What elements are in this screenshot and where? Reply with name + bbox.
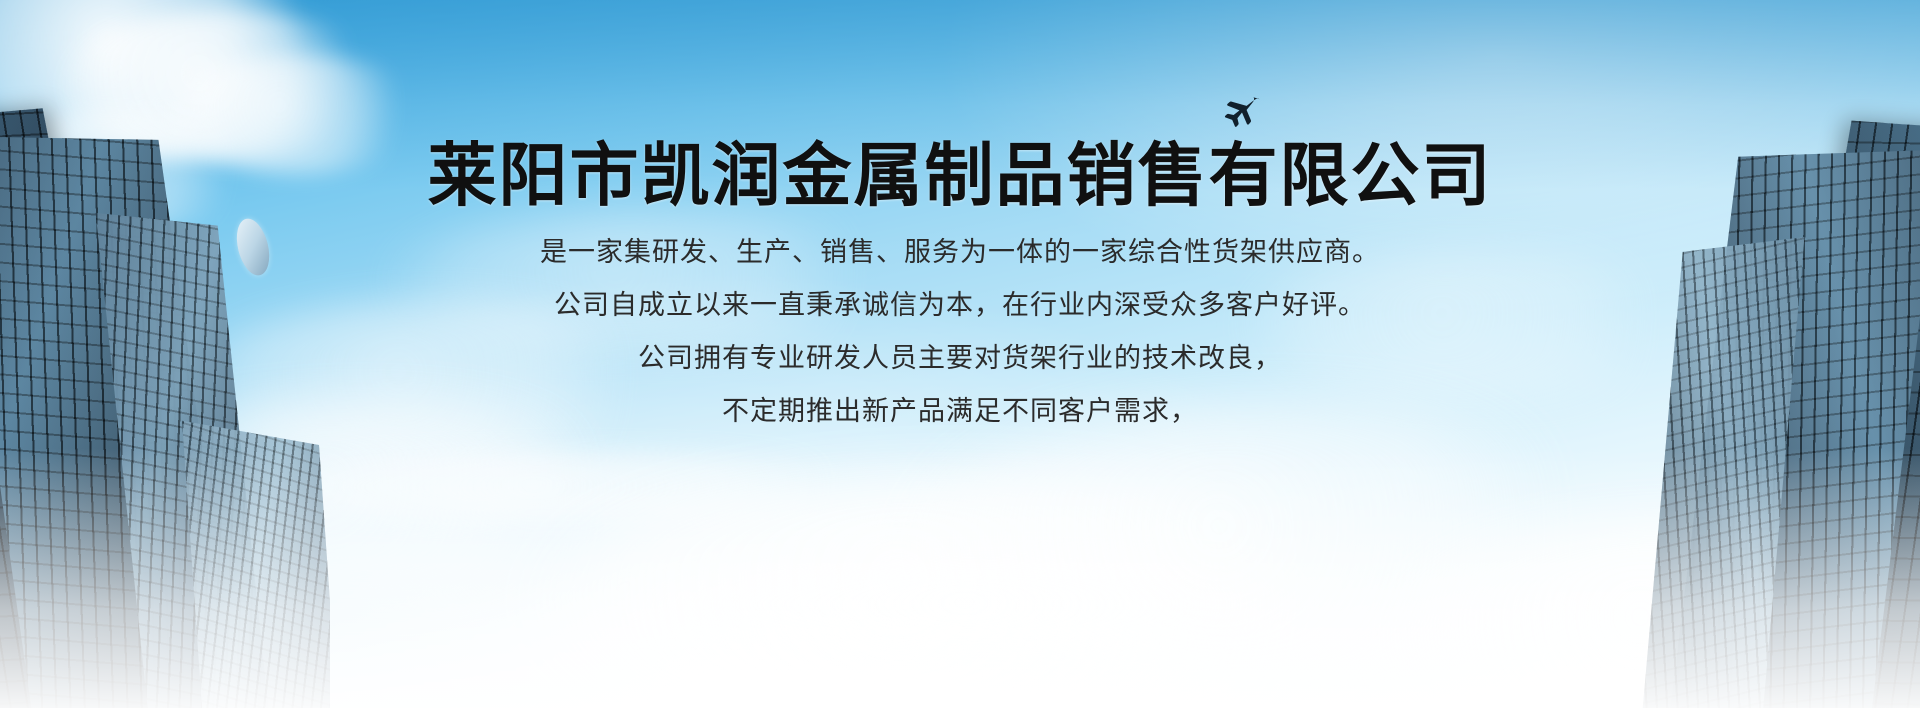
company-description: 是一家集研发、生产、销售、服务为一体的一家综合性货架供应商。 公司自成立以来一直… bbox=[0, 211, 1920, 427]
description-line: 公司自成立以来一直秉承诚信为本，在行业内深受众多客户好评。 bbox=[0, 290, 1920, 322]
banner-content: 莱阳市凯润金属制品销售有限公司 是一家集研发、生产、销售、服务为一体的一家综合性… bbox=[0, 0, 1920, 449]
description-line: 是一家集研发、生产、销售、服务为一体的一家综合性货架供应商。 bbox=[0, 237, 1920, 269]
company-hero-banner: 莱阳市凯润金属制品销售有限公司 是一家集研发、生产、销售、服务为一体的一家综合性… bbox=[0, 0, 1920, 708]
description-line: 公司拥有专业研发人员主要对货架行业的技术改良， bbox=[0, 343, 1920, 375]
description-line: 不定期推出新产品满足不同客户需求， bbox=[0, 396, 1920, 428]
company-title: 莱阳市凯润金属制品销售有限公司 bbox=[0, 0, 1920, 211]
